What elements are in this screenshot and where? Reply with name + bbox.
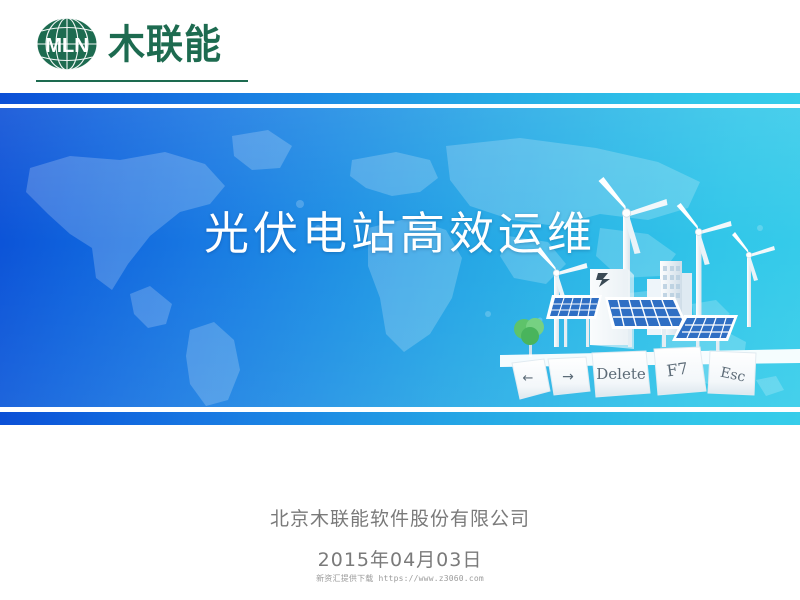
slide-header: MLN 木联能 bbox=[0, 0, 800, 86]
keycap-label: F7 bbox=[665, 359, 689, 381]
keycap-label: → bbox=[562, 369, 574, 385]
page-title: 光伏电站高效运维 bbox=[0, 211, 800, 256]
office-building bbox=[647, 261, 692, 335]
keycap: Esc bbox=[708, 351, 756, 395]
banner-bottom-stripe bbox=[0, 412, 800, 425]
header-divider-rule bbox=[36, 80, 248, 82]
presentation-date-text: 2015年04月03日 bbox=[0, 551, 800, 570]
keycap-label: ← bbox=[523, 371, 534, 386]
power-station-block bbox=[590, 269, 634, 349]
keycap: Delete bbox=[592, 351, 650, 397]
solar-panel-array bbox=[546, 295, 602, 347]
company-logo: MLN 木联能 bbox=[36, 14, 222, 74]
banner-top-stripe bbox=[0, 93, 800, 104]
keycap: → bbox=[548, 357, 590, 395]
ground-band bbox=[500, 349, 800, 367]
title-banner: 光伏电站高效运维 bbox=[0, 86, 800, 431]
source-watermark-text: 新资汇提供下载 https://www.z3060.com bbox=[0, 575, 800, 583]
slide-footer: 北京木联能软件股份有限公司 2015年04月03日 新资汇提供下载 https:… bbox=[0, 440, 800, 570]
company-name-text: 北京木联能软件股份有限公司 bbox=[0, 510, 800, 529]
green-globe-icon: MLN bbox=[36, 16, 98, 72]
keycap-label: Esc bbox=[719, 365, 747, 386]
wind-turbine bbox=[537, 247, 588, 347]
keycap: ← bbox=[512, 359, 550, 399]
lightning-bolt-icon bbox=[596, 273, 610, 287]
tree bbox=[514, 318, 544, 357]
banner-main-panel: 光伏电站高效运维 bbox=[0, 108, 800, 407]
solar-panel-array bbox=[605, 297, 689, 347]
logo-acronym-text: MLN bbox=[45, 35, 88, 57]
keycap: F7 bbox=[654, 347, 706, 395]
keycap-label: Delete bbox=[596, 365, 646, 383]
logo-company-chinese: 木联能 bbox=[108, 24, 222, 64]
solar-panel-array bbox=[672, 315, 738, 355]
